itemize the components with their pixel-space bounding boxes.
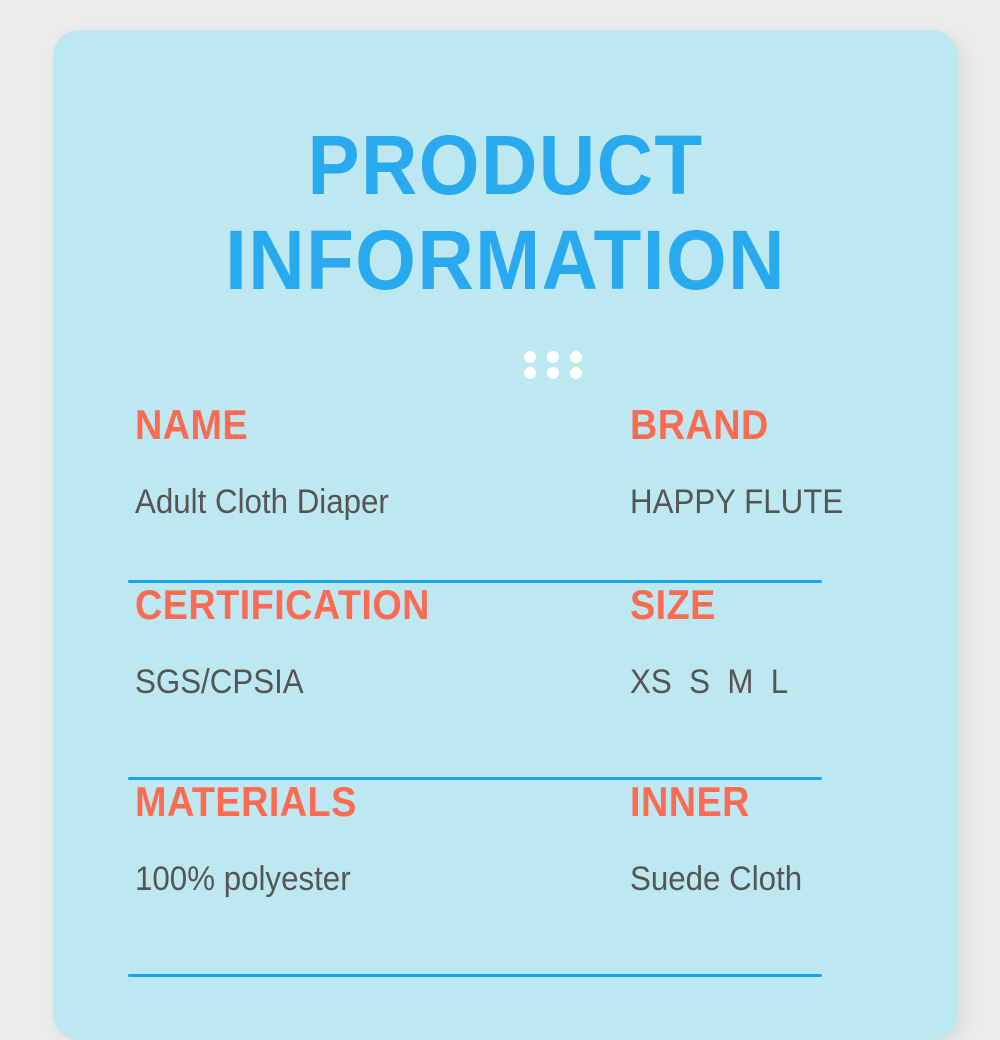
spec-cell-materials: MATERIALS 100% polyester xyxy=(135,780,381,898)
spec-label: MATERIALS xyxy=(135,780,357,824)
spec-cell-size: SIZE XS S M L xyxy=(630,583,802,701)
spec-value: HAPPY FLUTE xyxy=(630,483,843,521)
dot-icon xyxy=(524,367,536,379)
spec-cell-brand: BRAND HAPPY FLUTE xyxy=(630,403,862,521)
spec-value: Suede Cloth xyxy=(630,860,802,898)
spec-row: MATERIALS 100% polyester INNER Suede Clo… xyxy=(128,780,822,977)
spec-value: SGS/CPSIA xyxy=(135,663,436,701)
spec-label: NAME xyxy=(135,403,383,447)
product-information-card: PRODUCT INFORMATION NAME Adult Cloth Dia… xyxy=(53,30,958,1040)
poster-canvas: PRODUCT INFORMATION NAME Adult Cloth Dia… xyxy=(0,0,1000,1000)
dot-icon xyxy=(524,351,536,363)
dot-icon xyxy=(547,367,559,379)
spec-row: NAME Adult Cloth Diaper BRAND HAPPY FLUT… xyxy=(128,403,822,583)
dot-grid-ornament-icon xyxy=(524,351,583,379)
spec-label: SIZE xyxy=(630,583,785,627)
dot-icon xyxy=(547,351,559,363)
spec-cell-inner: INNER Suede Cloth xyxy=(630,780,817,898)
spec-row: CERTIFICATION SGS/CPSIA SIZE XS S M L xyxy=(128,583,822,780)
spec-label: BRAND xyxy=(630,403,839,447)
dot-icon xyxy=(570,367,582,379)
spec-value: Adult Cloth Diaper xyxy=(135,483,389,521)
page-title: PRODUCT INFORMATION xyxy=(53,118,958,308)
spec-cell-name: NAME Adult Cloth Diaper xyxy=(135,403,411,521)
spec-value: XS S M L xyxy=(630,663,788,701)
spec-table: NAME Adult Cloth Diaper BRAND HAPPY FLUT… xyxy=(128,403,822,977)
title-line-1: PRODUCT xyxy=(85,118,927,213)
spec-value: 100% polyester xyxy=(135,860,362,898)
spec-cell-certification: CERTIFICATION SGS/CPSIA xyxy=(135,583,463,701)
spec-label: CERTIFICATION xyxy=(135,583,430,627)
row-divider xyxy=(128,974,822,977)
spec-label: INNER xyxy=(630,780,798,824)
dot-icon xyxy=(570,351,582,363)
title-line-2: INFORMATION xyxy=(85,213,927,308)
